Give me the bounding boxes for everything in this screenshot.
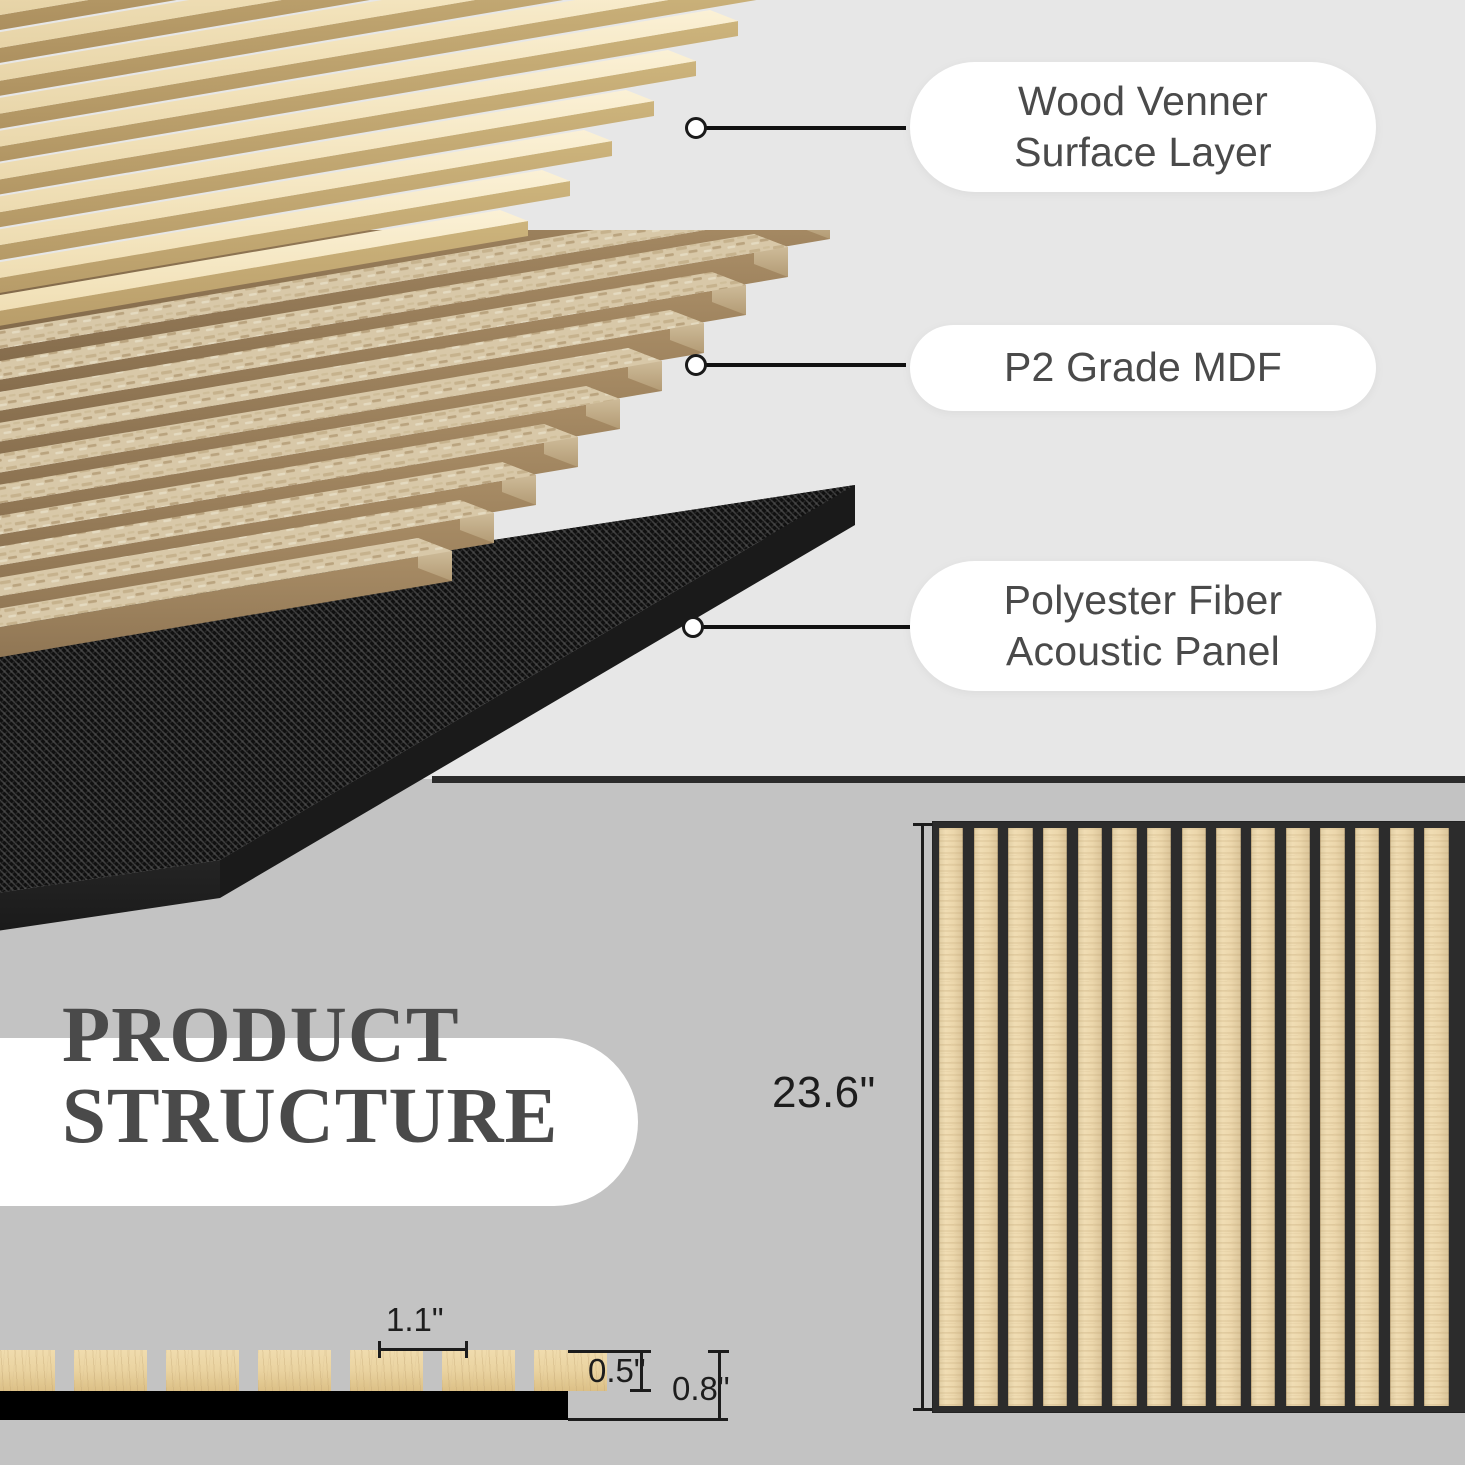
label-line-1: Wood Venner <box>1018 78 1268 124</box>
cross-section-diagram <box>0 1350 760 1465</box>
panel-slat <box>1008 828 1032 1406</box>
height-dimension-line <box>921 823 924 1411</box>
height-dimension-cap-bottom <box>913 1408 932 1411</box>
cross-section-slat <box>74 1350 147 1391</box>
cross-section-slat <box>350 1350 423 1391</box>
label-line-2: Surface Layer <box>1014 129 1272 175</box>
panel-slat <box>1182 828 1206 1406</box>
label-polyester-fiber-acoustic-panel: Polyester Fiber Acoustic Panel <box>910 561 1376 691</box>
total-depth-leader-bottom <box>568 1418 728 1421</box>
label-line-1: P2 Grade MDF <box>1004 342 1282 393</box>
width-dimension-label: 1.1" <box>386 1301 444 1339</box>
width-dimension-cap-right <box>465 1341 468 1358</box>
total-depth-label: 0.8" <box>672 1370 730 1408</box>
cross-section-slat <box>442 1350 515 1391</box>
cross-section-slat <box>258 1350 331 1391</box>
page-title: PRODUCT STRUCTURE <box>62 996 702 1157</box>
callout-line-2 <box>706 363 906 367</box>
panel-slat <box>1424 828 1448 1406</box>
panel-slat <box>1390 828 1414 1406</box>
callout-dot-wood-venner-surface-layer <box>685 117 707 139</box>
panel-slat <box>1216 828 1240 1406</box>
slat-depth-label: 0.5" <box>588 1352 646 1390</box>
callout-line-1 <box>706 126 906 130</box>
wood-veneer-svg <box>0 0 990 360</box>
panel-slat <box>1355 828 1379 1406</box>
panel-slat <box>939 828 963 1406</box>
cross-section-slat <box>166 1350 239 1391</box>
infographic-canvas: Wood Venner Surface Layer P2 Grade MDF P… <box>0 0 1465 1465</box>
panel-slat <box>1078 828 1102 1406</box>
height-dimension-cap-top <box>913 823 932 826</box>
total-depth-cap-top <box>708 1350 729 1353</box>
label-line-2: Acoustic Panel <box>1006 628 1280 674</box>
panel-slat <box>1147 828 1171 1406</box>
panel-slat <box>1320 828 1344 1406</box>
panel-slat <box>974 828 998 1406</box>
title-line-1: PRODUCT <box>62 996 702 1077</box>
cross-section-acoustic-base <box>0 1391 568 1420</box>
title-line-2: STRUCTURE <box>62 1077 702 1158</box>
callout-dot-polyester-fiber-acoustic-panel <box>682 616 704 638</box>
label-p2-grade-mdf: P2 Grade MDF <box>910 325 1376 411</box>
label-line-1: Polyester Fiber <box>1004 577 1283 623</box>
callout-line-3 <box>700 625 910 629</box>
wood-veneer-layer <box>0 0 990 360</box>
width-dimension-cap-left <box>378 1341 381 1358</box>
height-dimension-label: 23.6" <box>772 1068 876 1118</box>
panel-slat <box>1043 828 1067 1406</box>
callout-dot-p2-grade-mdf <box>685 354 707 376</box>
cross-section-slat <box>0 1350 55 1391</box>
panel-slat <box>1251 828 1275 1406</box>
slat-panel-front-view <box>933 822 1465 1412</box>
label-wood-venner-surface-layer: Wood Venner Surface Layer <box>910 62 1376 192</box>
exploded-view-diagram <box>0 0 950 800</box>
panel-slat <box>1112 828 1136 1406</box>
panel-slat <box>1286 828 1310 1406</box>
width-dimension-line <box>378 1348 468 1351</box>
